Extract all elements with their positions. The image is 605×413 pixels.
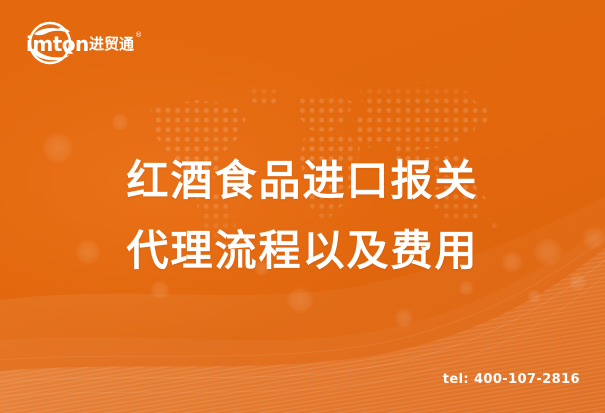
brand-logo[interactable]: imton 进贸通 ®: [18, 17, 143, 69]
headline-line-2: 代理流程以及费用: [0, 216, 605, 286]
logo-wordmark-latin: imton: [26, 32, 89, 56]
headline-line-1: 红酒食品进口报关: [0, 146, 605, 216]
contact-phone[interactable]: tel: 400-107-2816: [443, 372, 580, 387]
page-title: 红酒食品进口报关 代理流程以及费用: [0, 146, 605, 286]
promo-banner: imton 进贸通 ® 红酒食品进口报关 代理流程以及费用 tel: 400-1…: [0, 0, 605, 413]
registered-mark: ®: [135, 31, 142, 39]
logo-wordmark-chinese: 进贸通: [89, 35, 134, 53]
